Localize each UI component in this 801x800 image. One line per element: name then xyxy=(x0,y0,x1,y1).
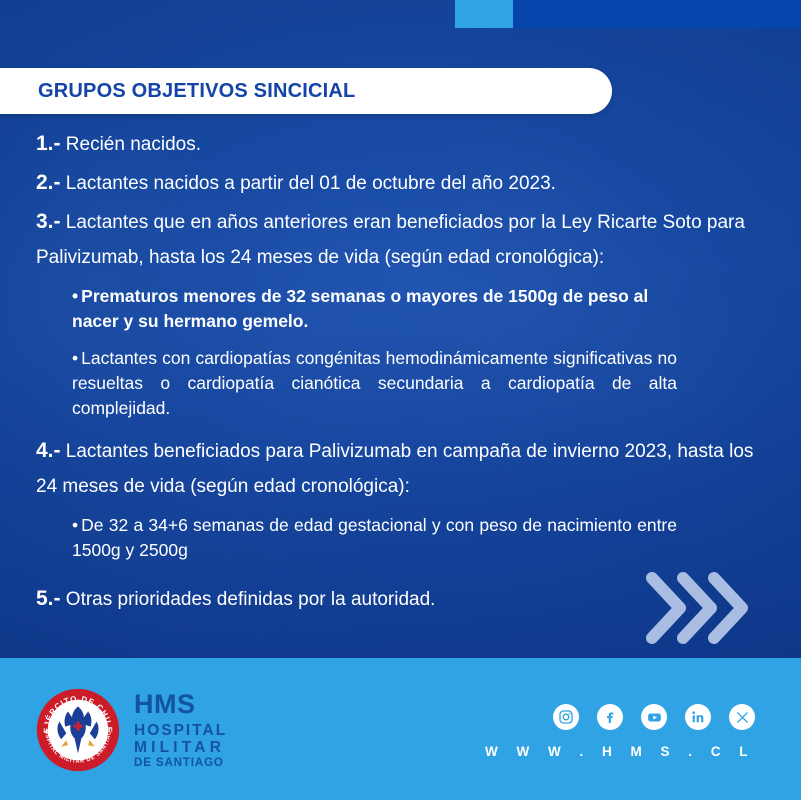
brand-block: EJÉRCITO DE CHILE HOSPITAL MILITAR DE SA… xyxy=(36,688,227,772)
sub-bullet-text: Prematuros menores de 32 semanas o mayor… xyxy=(72,286,648,331)
website-url: W W W . H M S . C L xyxy=(485,744,755,759)
item-text: Lactantes beneficiados para Palivizumab … xyxy=(36,441,753,497)
hms-line-3: DE SANTIAGO xyxy=(134,758,227,770)
bullet-icon: • xyxy=(72,515,78,535)
list-item: 1.- Recién nacidos. xyxy=(0,126,801,162)
title-banner: GRUPOS OBJETIVOS SINCICIAL xyxy=(0,68,612,114)
sub-bullet: •De 32 a 34+6 semanas de edad gestaciona… xyxy=(72,513,677,563)
hms-line-1: HOSPITAL xyxy=(134,723,227,739)
item-number: 3.- xyxy=(36,210,61,233)
linkedin-icon[interactable] xyxy=(685,704,711,730)
bullet-icon: • xyxy=(72,286,78,306)
sub-bullet-text: De 32 a 34+6 semanas de edad gestacional… xyxy=(72,515,677,560)
facebook-icon[interactable] xyxy=(597,704,623,730)
sub-bullet-text: Lactantes con cardiopatías congénitas he… xyxy=(72,348,677,418)
sub-bullet: •Lactantes con cardiopatías congénitas h… xyxy=(72,346,677,421)
poster-root: GRUPOS OBJETIVOS SINCICIAL 1.- Recién na… xyxy=(0,0,801,800)
content-list: 1.- Recién nacidos. 2.- Lactantes nacido… xyxy=(0,126,801,626)
item-number: 4.- xyxy=(36,439,61,462)
footer: EJÉRCITO DE CHILE HOSPITAL MILITAR DE SA… xyxy=(0,658,801,800)
youtube-icon[interactable] xyxy=(641,704,667,730)
item-number: 2.- xyxy=(36,171,61,194)
chevron-right-icon xyxy=(706,568,752,648)
top-accent-bar xyxy=(513,0,801,28)
page-title: GRUPOS OBJETIVOS SINCICIAL xyxy=(38,80,355,103)
item-number: 1.- xyxy=(36,132,61,155)
sub-bullet: •Prematuros menores de 32 semanas o mayo… xyxy=(72,284,682,334)
top-strip xyxy=(0,0,801,28)
item-text: Lactantes que en años anteriores eran be… xyxy=(36,212,745,268)
bullet-icon: • xyxy=(72,348,78,368)
list-item: 3.- Lactantes que en años anteriores era… xyxy=(0,204,801,275)
double-chevron-right-icon xyxy=(644,568,764,648)
item-text: Lactantes nacidos a partir del 01 de oct… xyxy=(66,173,556,194)
hms-line-2: MILITAR xyxy=(134,740,227,756)
top-accent-square xyxy=(455,0,513,28)
hms-logo: HMS HOSPITAL MILITAR DE SANTIAGO xyxy=(134,691,227,770)
item-text: Otras prioridades definidas por la autor… xyxy=(66,589,436,610)
social-links xyxy=(553,704,755,730)
item-number: 5.- xyxy=(36,587,61,610)
instagram-icon[interactable] xyxy=(553,704,579,730)
x-twitter-icon[interactable] xyxy=(729,704,755,730)
hms-acronym: HMS xyxy=(134,691,227,718)
list-item: 4.- Lactantes beneficiados para Palivizu… xyxy=(0,433,801,504)
list-item: 2.- Lactantes nacidos a partir del 01 de… xyxy=(0,165,801,201)
ejercito-de-chile-seal: EJÉRCITO DE CHILE HOSPITAL MILITAR DE SA… xyxy=(36,688,120,772)
item-text: Recién nacidos. xyxy=(66,134,201,155)
